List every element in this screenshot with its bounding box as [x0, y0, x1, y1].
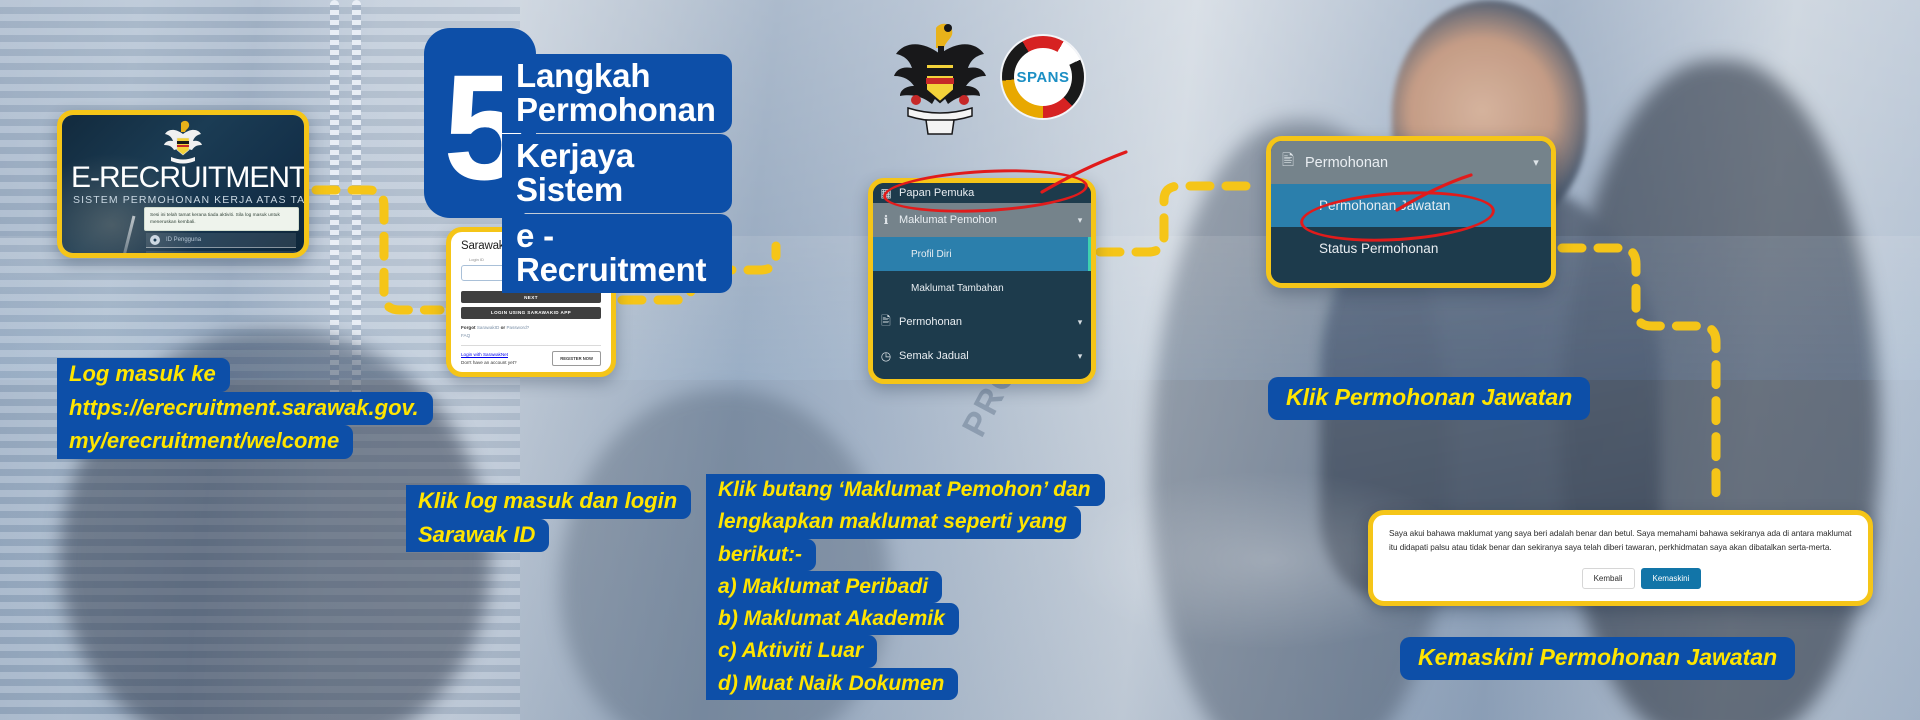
sidebar-item-label: Permohonan [899, 316, 1069, 328]
caption-maklumat-pemohon: Klik butang ‘Maklumat Pemohon’ dan lengk… [706, 474, 1105, 700]
caption-line: my/erecruitment/welcome [57, 425, 353, 459]
spans-logo-label: SPANS [1016, 69, 1069, 86]
applicant-nav-menu-card[interactable]: ▦ Papan Pemuka ℹ Maklumat Pemohon ▾ Prof… [868, 178, 1096, 384]
caption-line: d) Muat Naik Dokumen [706, 668, 958, 700]
sidebar-item-label: Maklumat Pemohon [899, 214, 1069, 226]
caption-click-login: Klik log masuk dan login Sarawak ID [406, 485, 691, 552]
caption-line: lengkapkan maklumat seperti yang [706, 506, 1081, 538]
chevron-down-icon: ▾ [1521, 156, 1551, 169]
chevron-down-icon: ▾ [1069, 351, 1091, 362]
clock-icon: ◷ [1271, 283, 1305, 289]
sidebar-item-permohonan[interactable]: 🖹 Permohonan ▾ [1271, 141, 1551, 184]
password-field[interactable]: ■ Kata Laluan [146, 251, 296, 258]
no-account-text: Don't have an account yet? [461, 359, 517, 367]
login-id-legend: Login ID [466, 257, 487, 262]
lock-icon: ■ [150, 253, 160, 258]
caption-line: Log masuk ke [57, 358, 230, 392]
caption-line: Klik log masuk dan login [406, 485, 691, 519]
nav-list: 🖹 Permohonan ▾ Permohonan Jawatan Status… [1271, 141, 1551, 288]
caption-line: Klik butang ‘Maklumat Pemohon’ dan [706, 474, 1105, 506]
register-row: Login with SarawakNet Don't have an acco… [461, 351, 601, 368]
login-using-app-button[interactable]: LOGIN USING SARAWAKID APP [461, 307, 601, 319]
erecruitment-title: E-RECRUITMENT [71, 161, 306, 195]
help-links: Forgot SarawakID or Password? FAQ [461, 324, 601, 340]
password-placeholder: Kata Laluan [166, 255, 198, 258]
forgot-password-link[interactable]: Password? [506, 325, 529, 330]
title-line-3: e - Recruitment [502, 214, 732, 293]
user-icon: ● [150, 235, 160, 245]
sidebar-item-permohonan-jawatan[interactable]: Permohonan Jawatan [1271, 184, 1551, 227]
logo-group: SPANS [892, 20, 1084, 138]
caption-kemaskini-permohonan-jawatan: Kemaskini Permohonan Jawatan [1400, 637, 1795, 680]
sidebar-item-maklumat-pemohon[interactable]: ℹ Maklumat Pemohon ▾ [873, 203, 1091, 237]
dialog-actions: Kembali Kemaskini [1389, 568, 1854, 589]
session-expired-notice: Sesi ini telah tamat kerana tiada aktivi… [144, 207, 299, 231]
page-title: Langkah Permohonan Kerjaya Sistem e - Re… [502, 54, 732, 294]
sarawak-crest-small-icon [163, 120, 203, 166]
caption-line: a) Maklumat Peribadi [706, 571, 942, 603]
caption-line: Sarawak ID [406, 519, 549, 553]
kemaskini-button[interactable]: Kemaskini [1641, 568, 1702, 589]
sarawaknet-login-link[interactable]: Login with SarawakNet [461, 352, 508, 357]
caption-line: berikut:- [706, 539, 816, 571]
sarawak-coat-of-arms-icon [892, 20, 988, 138]
register-now-button[interactable]: REGISTER NOW [552, 351, 601, 366]
document-icon: 🖹 [1271, 150, 1305, 175]
title-line-1: Langkah Permohonan [502, 54, 732, 133]
forgot-prefix: Forgot [461, 325, 477, 330]
caption-line: c) Aktiviti Luar [706, 635, 877, 667]
sidebar-item-label: Profil Diri [899, 249, 1069, 260]
erecruitment-hero-background: E-RECRUITMENT SISTEM PERMOHONAN KERJA AT… [62, 115, 304, 253]
chevron-down-icon: ▾ [1069, 317, 1091, 328]
sidebar-item-semak-jadual[interactable]: ◷ Semak Jadual ▾ [873, 339, 1091, 373]
erecruitment-subtitle: SISTEM PERMOHONAN KERJA ATAS TALIAN [73, 194, 309, 206]
faq-link[interactable]: FAQ [461, 333, 470, 338]
sidebar-item-label: Maklumat Tambahan [899, 283, 1069, 294]
sidebar-item-papan-pemuka[interactable]: ▦ Papan Pemuka [873, 183, 1091, 203]
sidebar-item-label: Semak Jadual [1305, 284, 1521, 289]
sidebar-item-status-permohonan[interactable]: Status Permohonan [1271, 227, 1551, 270]
sidebar-item-maklumat-tambahan[interactable]: Maklumat Tambahan [873, 271, 1091, 305]
sidebar-item-semak-jadual[interactable]: ◷ Semak Jadual ▾ [1271, 270, 1551, 288]
caption-line: https://erecruitment.sarawak.gov. [57, 392, 433, 426]
nav-list: ▦ Papan Pemuka ℹ Maklumat Pemohon ▾ Prof… [873, 183, 1091, 373]
permohonan-nav-menu-card[interactable]: 🖹 Permohonan ▾ Permohonan Jawatan Status… [1266, 136, 1556, 288]
divider [461, 345, 601, 346]
kembali-button[interactable]: Kembali [1582, 568, 1635, 589]
sidebar-item-label: Permohonan [1305, 155, 1521, 171]
user-id-field[interactable]: ● ID Pengguna [146, 233, 296, 248]
sidebar-item-label: Papan Pemuka [899, 187, 1069, 199]
chevron-down-icon: ▾ [1069, 215, 1091, 226]
sidebar-item-permohonan[interactable]: 🖹 Permohonan ▾ [873, 305, 1091, 339]
sidebar-item-label: Semak Jadual [899, 350, 1069, 362]
forgot-line: Forgot SarawakID or Password? [461, 324, 601, 332]
clock-icon: ◷ [873, 349, 899, 363]
sidebar-item-profil-diri[interactable]: Profil Diri [873, 237, 1091, 271]
caption-klik-permohonan-jawatan: Klik Permohonan Jawatan [1268, 377, 1590, 420]
user-id-placeholder: ID Pengguna [166, 237, 201, 243]
caption-line: b) Maklumat Akademik [706, 603, 959, 635]
erecruitment-portal-card[interactable]: E-RECRUITMENT SISTEM PERMOHONAN KERJA AT… [57, 110, 309, 258]
sidebar-item-label: Permohonan Jawatan [1305, 198, 1521, 213]
forgot-sarawakid-link[interactable]: SarawakID [477, 325, 499, 330]
declaration-text: Saya akui bahawa maklumat yang saya beri… [1389, 527, 1854, 556]
info-icon: ℹ [873, 213, 899, 227]
sidebar-item-label: Status Permohonan [1305, 241, 1521, 256]
caption-line: Klik Permohonan Jawatan [1268, 377, 1590, 420]
document-icon: 🖹 [873, 312, 899, 333]
caption-login-url: Log masuk ke https://erecruitment.sarawa… [57, 358, 433, 459]
dashboard-icon: ▦ [873, 186, 899, 200]
spans-logo-icon: SPANS [1002, 36, 1084, 118]
caption-line: Kemaskini Permohonan Jawatan [1400, 637, 1795, 680]
confirmation-dialog-card[interactable]: Saya akui bahawa maklumat yang saya beri… [1368, 510, 1873, 606]
title-line-2: Kerjaya Sistem [502, 134, 732, 213]
